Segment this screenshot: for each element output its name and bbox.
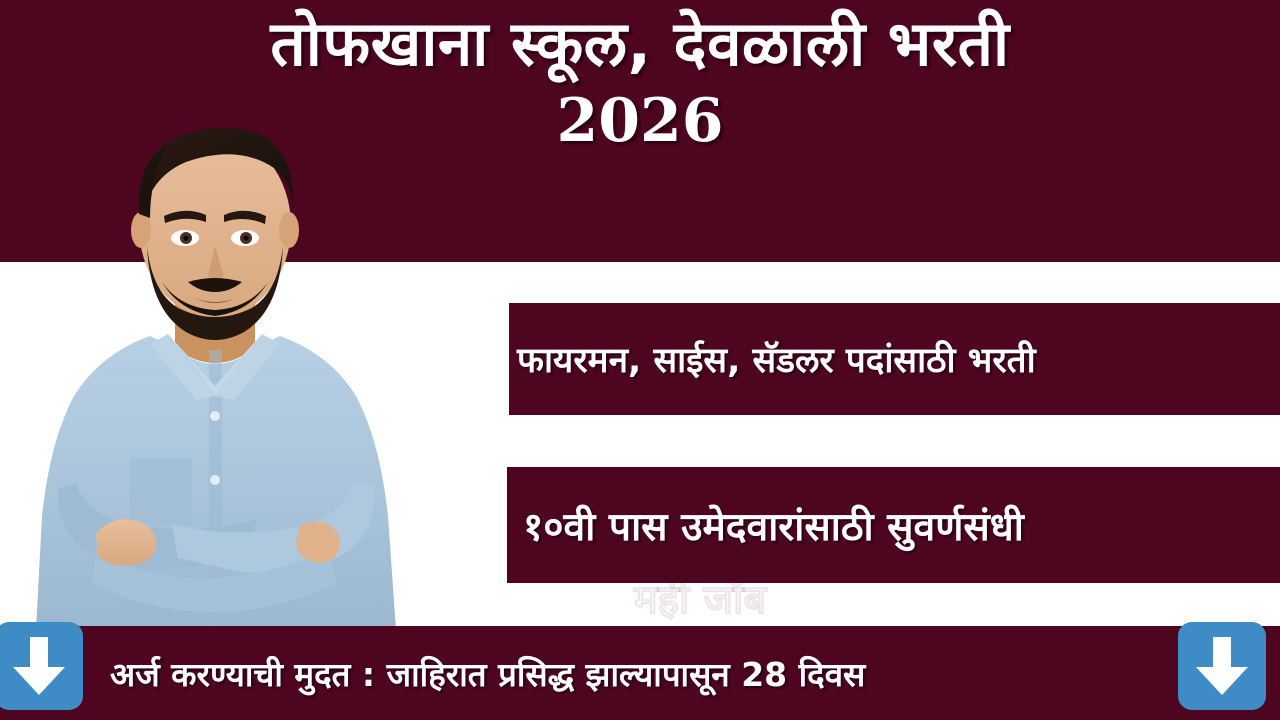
highlight-text-posts: फायरमन, साईस, सॅडलर पदांसाठी भरती [517, 336, 1036, 383]
recruitment-poster: तोफखाना स्कूल, देवळाली भरती 2026 फायरमन,… [0, 0, 1280, 720]
application-deadline-text: अर्ज करण्याची मुदत : जाहिरात प्रसिद्ध झा… [110, 626, 1180, 720]
watermark-text: मही जॉब [560, 578, 840, 622]
highlight-text-eligibility: १०वी पास उमेदवारांसाठी सुवर्णसंधी [523, 499, 1024, 552]
highlight-box-posts: फायरमन, साईस, सॅडलर पदांसाठी भरती [509, 303, 1280, 415]
download-button-right[interactable] [1178, 622, 1266, 710]
download-arrow-icon [10, 635, 68, 697]
highlight-box-eligibility: १०वी पास उमेदवारांसाठी सुवर्णसंधी [507, 467, 1280, 583]
candidate-photo-illustration [0, 96, 430, 630]
download-button-left[interactable] [0, 622, 83, 710]
candidate-photo [0, 96, 430, 630]
download-arrow-icon [1193, 635, 1251, 697]
